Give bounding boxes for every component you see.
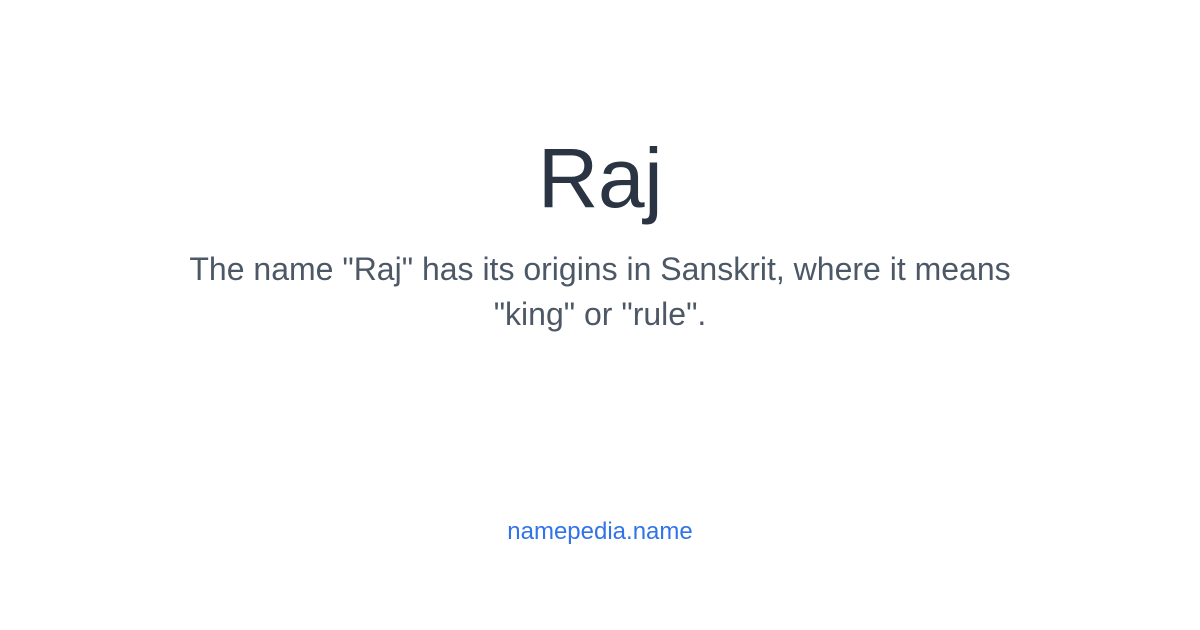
page-title: Raj <box>538 133 663 224</box>
hero-section: Raj The name "Raj" has its origins in Sa… <box>0 0 1200 470</box>
footer: namepedia.name <box>0 515 1200 549</box>
site-link[interactable]: namepedia.name <box>507 515 692 549</box>
name-description: The name "Raj" has its origins in Sanskr… <box>150 247 1050 337</box>
name-info-card: Raj The name "Raj" has its origins in Sa… <box>0 0 1200 630</box>
